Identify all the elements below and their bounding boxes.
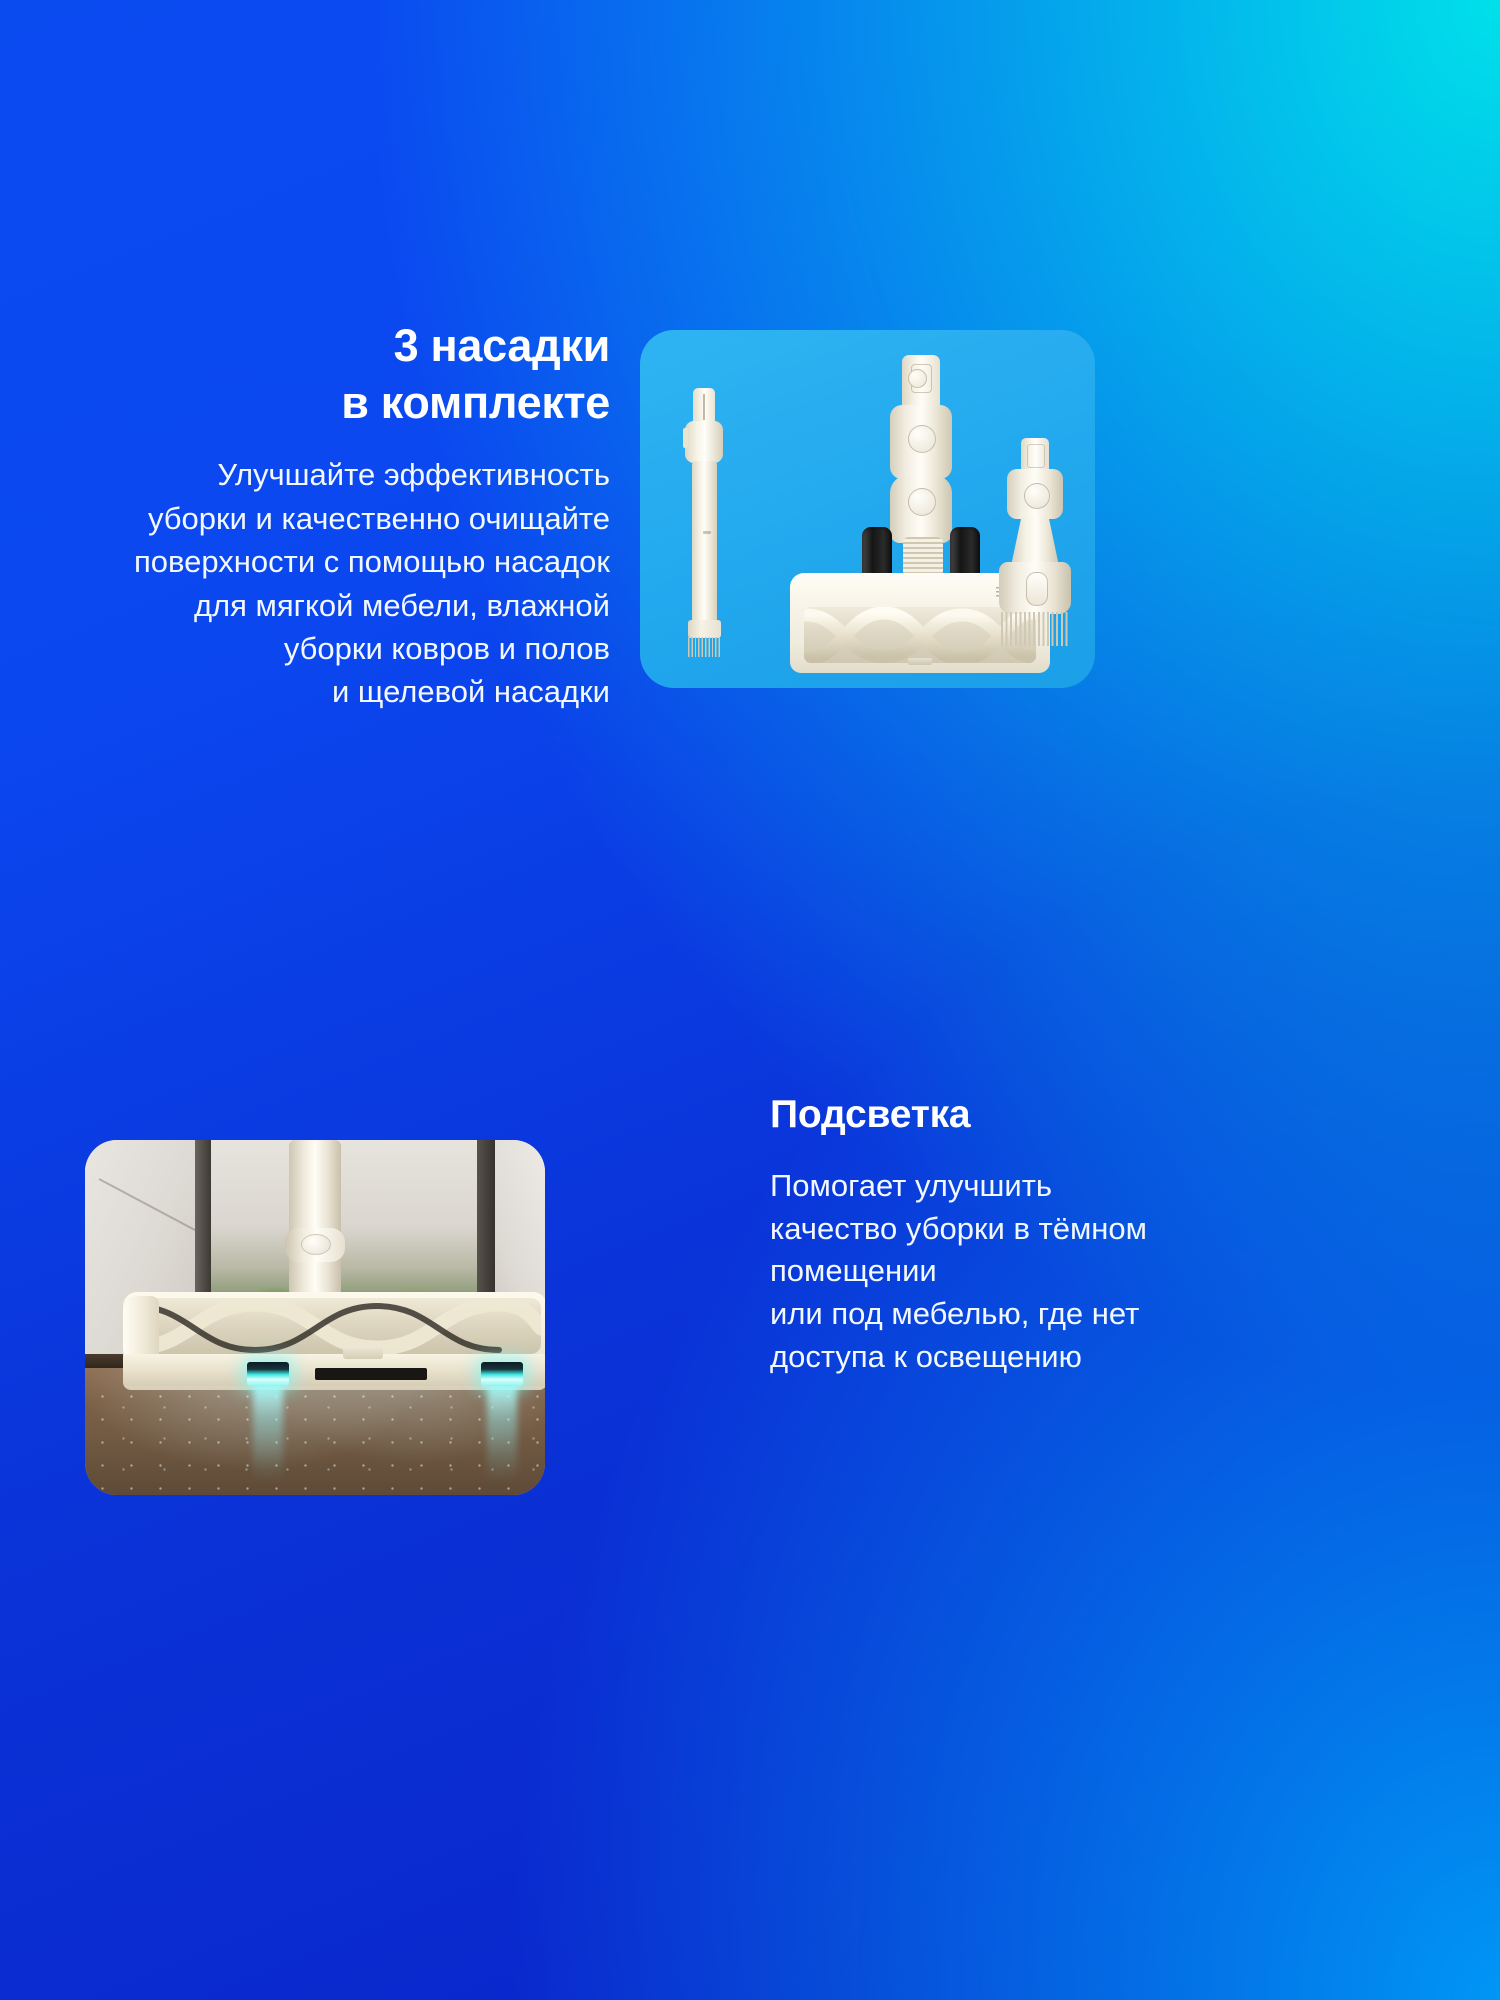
dusting-brush-slot bbox=[1026, 572, 1048, 606]
crevice-nozzle-icon bbox=[682, 388, 726, 658]
led-photo-card bbox=[85, 1140, 545, 1495]
photo-roller-helix-icon bbox=[133, 1298, 541, 1354]
photo-wand-button bbox=[301, 1234, 331, 1255]
photo-floor-debris bbox=[85, 1380, 545, 1495]
led-text-block: Подсветка Помогает улучшить качество убо… bbox=[770, 1092, 1430, 1379]
attachments-product-card bbox=[640, 330, 1095, 688]
crevice-collar bbox=[685, 421, 723, 463]
led-beam-left bbox=[253, 1384, 283, 1482]
led-beam-right bbox=[487, 1384, 517, 1482]
brush-head-button-mid bbox=[908, 425, 936, 453]
led-body-text: Помогает улучшить качество уборки в тёмн… bbox=[770, 1165, 1430, 1379]
brush-head-latch bbox=[908, 658, 932, 665]
crevice-shaft bbox=[692, 461, 717, 623]
section-attachments: 3 насадки в комплекте Улучшайте эффектив… bbox=[0, 318, 1500, 738]
dusting-brush-button bbox=[1024, 483, 1050, 509]
brush-head-button-low bbox=[908, 488, 936, 516]
photo-roller-window bbox=[133, 1298, 541, 1354]
crevice-bristles bbox=[688, 637, 721, 657]
photo-head-suction-slot bbox=[315, 1368, 427, 1380]
led-light-right bbox=[481, 1362, 523, 1386]
dusting-brush-bristles bbox=[1001, 612, 1069, 646]
led-heading: Подсветка bbox=[770, 1092, 1430, 1139]
product-infographic-poster: 3 насадки в комплекте Улучшайте эффектив… bbox=[0, 0, 1500, 2000]
brush-head-vent bbox=[903, 537, 943, 577]
brush-head-button-top bbox=[908, 369, 927, 388]
led-light-left bbox=[247, 1362, 289, 1386]
photo-vacuum-wand bbox=[289, 1140, 341, 1296]
section-led-light: Подсветка Помогает улучшить качество убо… bbox=[0, 880, 1500, 1300]
attachments-body-text: Улучшайте эффективность уборки и качеств… bbox=[30, 453, 610, 713]
attachments-heading: 3 насадки в комплекте bbox=[30, 318, 610, 431]
crevice-foot bbox=[688, 620, 721, 638]
dusting-brush-cone bbox=[1011, 516, 1059, 566]
photo-head-latch bbox=[343, 1346, 383, 1359]
dusting-brush-nozzle-icon bbox=[995, 438, 1075, 653]
attachments-text-block: 3 насадки в комплекте Улучшайте эффектив… bbox=[30, 318, 610, 714]
